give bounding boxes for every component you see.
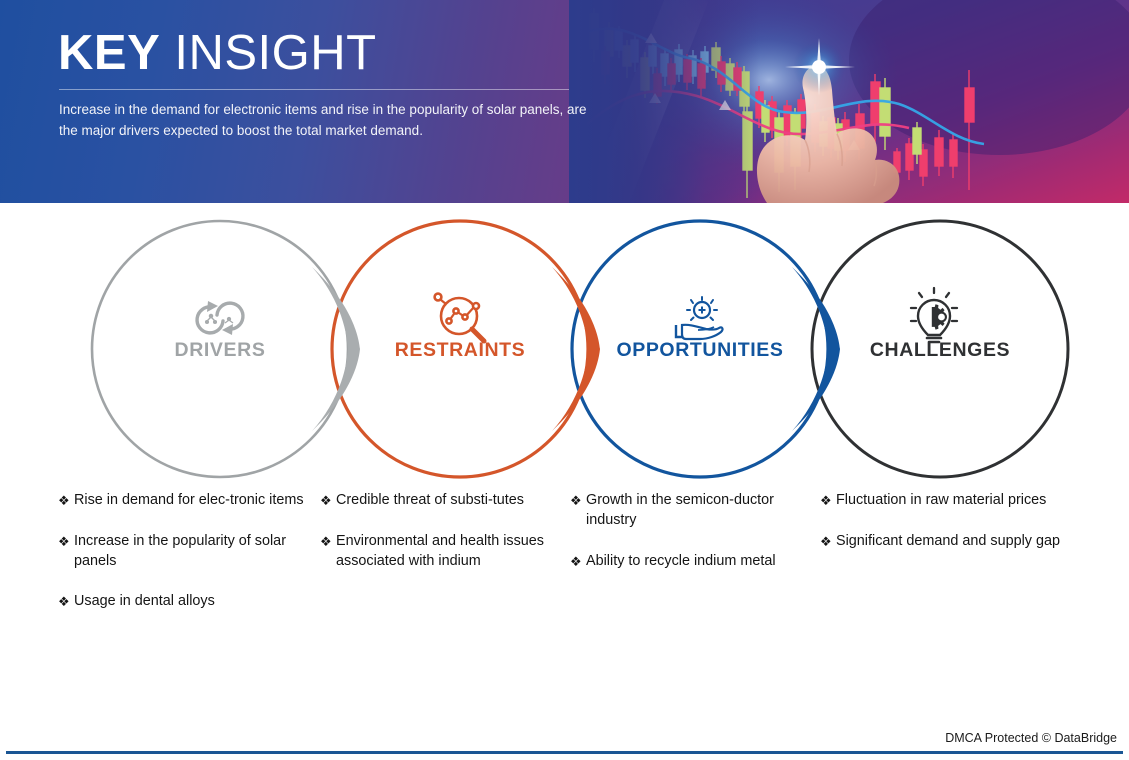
bullet-text: Growth in the semicon-​ductor industry bbox=[586, 490, 818, 531]
header-banner: KEY INSIGHT Increase in the demand for e… bbox=[0, 0, 1129, 203]
bullet-diamond-icon: ❖ bbox=[820, 531, 836, 552]
bullet-text: Significant demand and supply gap bbox=[836, 531, 1070, 551]
bullet-column-drivers: ❖ Rise in demand for elec-​tronic items … bbox=[58, 490, 313, 632]
bullet-columns: ❖ Rise in demand for elec-​tronic items … bbox=[0, 490, 1129, 690]
list-item: ❖ Growth in the semicon-​ductor industry bbox=[570, 490, 818, 531]
bullet-diamond-icon: ❖ bbox=[320, 490, 336, 511]
lightbulb-gear-icon bbox=[911, 288, 957, 342]
bullet-diamond-icon: ❖ bbox=[58, 531, 74, 552]
bullet-diamond-icon: ❖ bbox=[570, 490, 586, 511]
bullet-diamond-icon: ❖ bbox=[570, 551, 586, 572]
list-item: ❖ Fluctuation in raw material prices bbox=[820, 490, 1070, 511]
page-title-light: INSIGHT bbox=[160, 26, 376, 80]
label-restraints: RESTRAINTS bbox=[360, 339, 560, 362]
bullet-column-opportunities: ❖ Growth in the semicon-​ductor industry… bbox=[570, 490, 818, 591]
bullet-text: Fluctuation in raw material prices bbox=[836, 490, 1070, 510]
list-item: ❖ Usage in dental alloys bbox=[58, 591, 313, 612]
label-drivers: DRIVERS bbox=[120, 339, 320, 362]
list-item: ❖ Credible threat of substi-​tutes bbox=[320, 490, 570, 511]
footer-divider bbox=[6, 751, 1123, 754]
infographic-page: KEY INSIGHT Increase in the demand for e… bbox=[0, 0, 1129, 760]
bullet-diamond-icon: ❖ bbox=[58, 490, 74, 511]
page-title: KEY INSIGHT bbox=[58, 28, 377, 79]
bullet-diamond-icon: ❖ bbox=[58, 591, 74, 612]
bullet-column-challenges: ❖ Fluctuation in raw material prices ❖ S… bbox=[820, 490, 1070, 571]
bullet-text: Rise in demand for elec-​tronic items bbox=[74, 490, 313, 510]
magnifier-network-icon bbox=[435, 294, 484, 341]
label-challenges: CHALLENGES bbox=[840, 339, 1040, 362]
stage-circles-row: DRIVERS RESTRAINTS OPPORTUNITIES CHALLEN… bbox=[0, 203, 1129, 493]
cycle-arrows-icon bbox=[197, 301, 243, 335]
page-subtitle: Increase in the demand for electronic it… bbox=[59, 100, 599, 142]
bullet-text: Usage in dental alloys bbox=[74, 591, 313, 611]
bullet-text: Credible threat of substi-​tutes bbox=[336, 490, 570, 510]
footer-copyright: DMCA Protected © DataBridge bbox=[945, 731, 1117, 745]
list-item: ❖ Significant demand and supply gap bbox=[820, 531, 1070, 552]
page-title-bold: KEY bbox=[58, 26, 160, 80]
bullet-column-restraints: ❖ Credible threat of substi-​tutes ❖ Env… bbox=[320, 490, 570, 591]
list-item: ❖ Rise in demand for elec-​tronic items bbox=[58, 490, 313, 511]
bullet-text: Ability to recycle indium metal bbox=[586, 551, 818, 571]
list-item: ❖ Environmental and health issues associ… bbox=[320, 531, 570, 572]
label-opportunities: OPPORTUNITIES bbox=[600, 339, 800, 362]
title-divider bbox=[59, 89, 569, 90]
bullet-text: Increase in the popularity of solar pane… bbox=[74, 531, 313, 572]
bullet-diamond-icon: ❖ bbox=[820, 490, 836, 511]
hand-holding-idea-icon bbox=[676, 297, 722, 339]
bullet-text: Environmental and health issues associat… bbox=[336, 531, 570, 572]
banner-stock-chart-image bbox=[569, 0, 1129, 203]
list-item: ❖ Increase in the popularity of solar pa… bbox=[58, 531, 313, 572]
bullet-diamond-icon: ❖ bbox=[320, 531, 336, 552]
list-item: ❖ Ability to recycle indium metal bbox=[570, 551, 818, 572]
